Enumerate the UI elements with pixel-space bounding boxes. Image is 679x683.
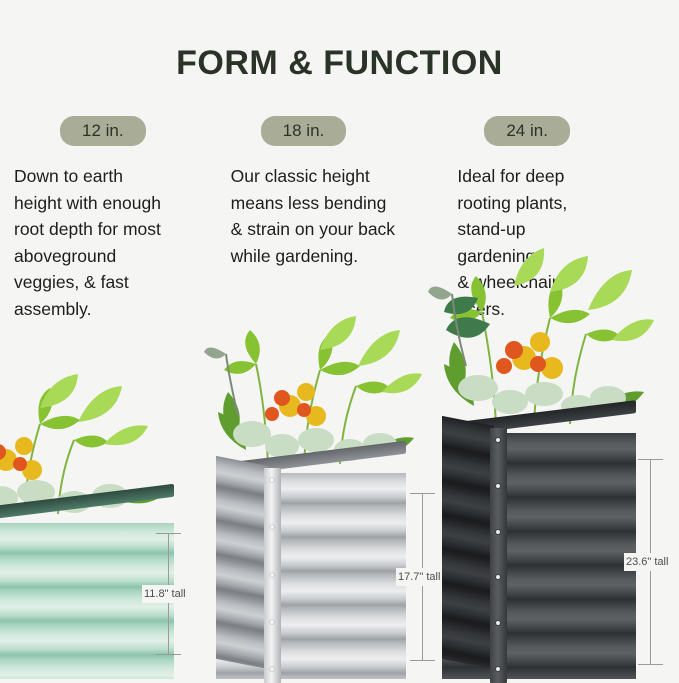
feature-description-12in: Down to earth height with enough root de…	[14, 163, 208, 323]
plants-foliage-24in	[442, 254, 636, 424]
planter-showcase: 11.8" tall	[0, 330, 679, 679]
planter-image-12in: 11.8" tall	[0, 514, 174, 679]
dimension-label-18in: 17.7" tall	[396, 568, 442, 586]
feature-column-18in: 18 in. Our classic height means less ben…	[222, 116, 439, 323]
feature-description-18in: Our classic height means less bending & …	[231, 163, 425, 269]
dimension-cap-top-12in	[156, 533, 181, 534]
planter-body-24in	[442, 424, 636, 679]
height-badge-24in: 24 in.	[484, 116, 570, 146]
dimension-cap-bottom-12in	[156, 654, 181, 655]
planter-side-panel-24in	[442, 416, 494, 669]
planter-side-panel-18in	[216, 456, 268, 669]
dimension-label-24in: 23.6" tall	[624, 553, 670, 571]
page-title: FORM & FUNCTION	[0, 0, 679, 83]
height-badge-18in: 18 in.	[261, 116, 347, 146]
dimension-cap-bottom-18in	[410, 660, 435, 661]
planter-image-24in: 23.6" tall	[442, 424, 636, 679]
dimension-annotation-24in: 23.6" tall	[628, 459, 679, 665]
dimension-cap-top-18in	[410, 493, 435, 494]
planter-image-18in: 17.7" tall	[216, 464, 406, 679]
plants-foliage-18in	[216, 314, 406, 464]
feature-column-12in: 12 in. Down to earth height with enough …	[14, 116, 222, 323]
dimension-label-12in: 11.8" tall	[142, 585, 188, 603]
height-badge-12in: 12 in.	[60, 116, 146, 146]
dimension-cap-bottom-24in	[638, 664, 663, 665]
planter-rivets-18in	[270, 478, 275, 671]
dimension-cap-top-24in	[638, 459, 663, 460]
planter-rivets-24in	[496, 438, 501, 671]
planter-body-18in	[216, 464, 406, 679]
